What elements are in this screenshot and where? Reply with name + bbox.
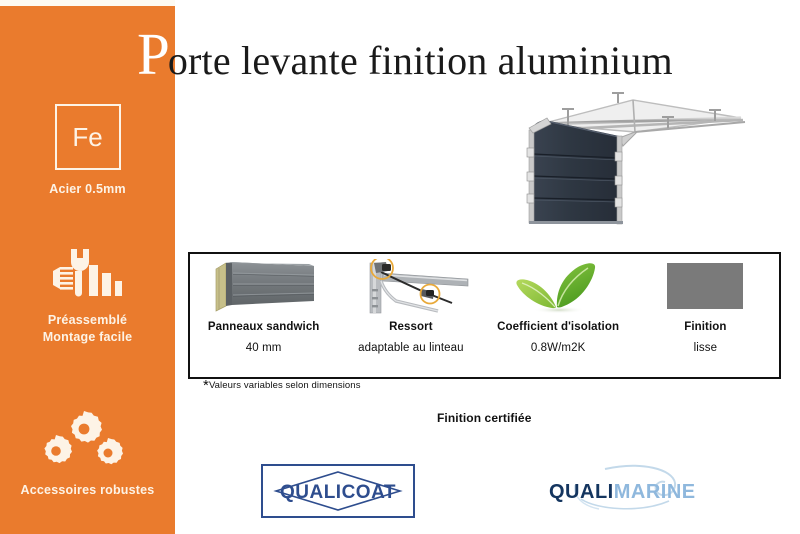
qualimarine-logo-text: QUALIMARINE [549,481,696,504]
feature-value-4: lisse [694,342,718,354]
feature-value-2: adaptable au linteau [358,342,464,354]
feature-value-1: 40 mm [246,342,282,354]
spring-mechanism-image [352,259,470,315]
feature-label-4: Finition [684,321,726,333]
sandwich-panel-image [210,259,318,315]
qualimarine-logo: QUALIMARINE [545,463,715,515]
feature-panneaux-sandwich: Panneaux sandwich 40 mm [190,254,337,377]
sidebar-item-accessories-label: Accessoires robustes [0,482,175,499]
footnote: *Valeurs variables selon dimensions [203,380,361,391]
feature-ressort: Ressort adaptable au linteau [337,254,484,377]
feature-coefficient-isolation: Coefficient d'isolation 0.8W/m2K [485,254,632,377]
qualimarine-text-marine: MARINE [614,481,696,503]
wrench-screw-icon [0,245,175,303]
feature-label-2: Ressort [389,321,433,333]
poster-canvas: Fe Acier 0.5mm [0,0,800,534]
feature-label-1: Panneaux sandwich [208,321,320,333]
green-leaf-icon [512,259,604,315]
sidebar-item-steel-label: Acier 0.5mm [0,181,175,198]
features-box: Panneaux sandwich 40 mm [188,252,781,379]
smooth-finish-swatch [659,259,751,315]
fe-element-icon: Fe [55,104,121,170]
page-title-rest: orte levante finition aluminium [168,33,673,89]
page-title-cap: P [137,26,169,82]
sidebar-item-preassembled-label-1: Préassemblé [0,312,175,329]
sidebar-item-steel: Fe Acier 0.5mm [0,104,175,198]
garage-door-photo [505,88,785,228]
gears-icon [0,415,175,473]
footnote-text: Valeurs variables selon dimensions [209,380,361,391]
page-title: P orte levante finition aluminium [137,26,673,82]
sidebar-item-accessories: Accessoires robustes [0,415,175,499]
fe-symbol-label: Fe [72,124,102,150]
feature-finition: Finition lisse [632,254,779,377]
sidebar-item-preassembled: Préassemblé Montage facile [0,245,175,346]
qualicoat-logo-text: QUALICOAT [280,482,396,503]
feature-label-3: Coefficient d'isolation [497,321,619,333]
certification-label: Finition certifiée [437,411,531,425]
qualimarine-text-quali: QUALI [549,481,614,503]
feature-value-3: 0.8W/m2K [531,342,585,354]
qualicoat-logo: QUALICOAT [261,464,415,518]
sidebar-item-preassembled-label-2: Montage facile [0,329,175,346]
